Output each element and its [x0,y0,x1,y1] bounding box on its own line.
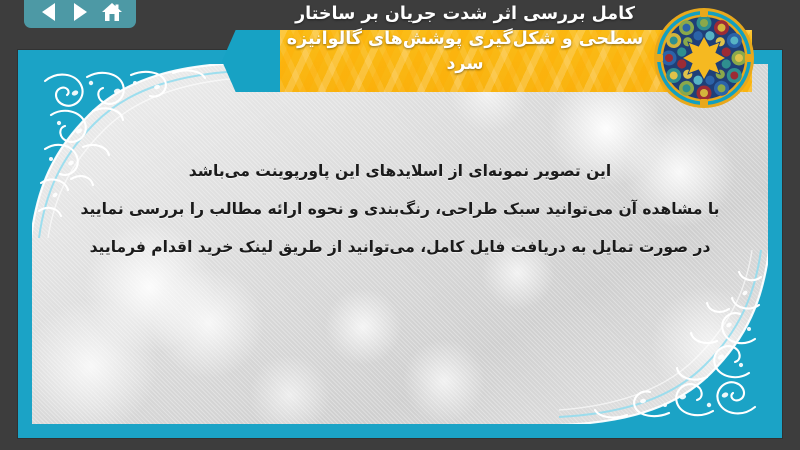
persian-rosette-medallion [652,6,756,110]
navigation-bar [24,0,136,28]
slide-body-text: این تصویر نمونه‌ای از اسلایدهای این پاور… [32,152,768,266]
body-line-3: در صورت تمایل به دریافت فایل کامل، می‌تو… [72,228,728,266]
home-icon [101,2,123,22]
slide-viewer: این تصویر نمونه‌ای از اسلایدهای این پاور… [0,0,800,450]
home-button[interactable] [101,1,123,23]
persian-corner-ornament-bottom-right [559,250,768,424]
title-tab-arrow [222,30,284,92]
slide-content-area: این تصویر نمونه‌ای از اسلایدهای این پاور… [32,64,768,424]
forward-button[interactable] [69,1,91,23]
title-line-1: کامل بررسی اثر شدت جریان بر ساختار [230,2,700,27]
body-line-2: با مشاهده آن می‌توانید سبک طراحی، رنگ‌بن… [72,190,728,228]
triangle-left-icon [42,3,55,21]
body-line-1: این تصویر نمونه‌ای از اسلایدهای این پاور… [72,152,728,190]
triangle-right-icon [74,3,87,21]
back-button[interactable] [37,1,59,23]
